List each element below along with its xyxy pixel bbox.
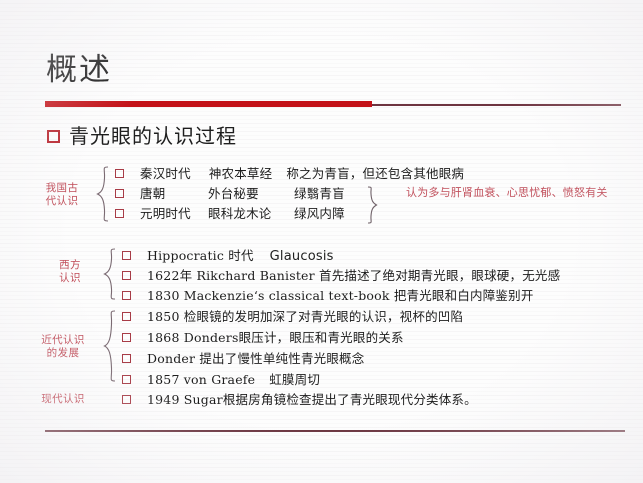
group-label-modern-dev-line1: 近代认识 [22, 334, 104, 347]
cell-note: 虹膜周切 [269, 372, 320, 387]
group-label-ancient-line2: 代认识 [26, 195, 98, 208]
hollow-square-bullet-icon [122, 291, 131, 300]
cell-era: Hippocratic 时代 [147, 248, 254, 263]
list-item-text: 1850 检眼镜的发明加深了对青光眼的认识，视杯的凹陷 [147, 310, 463, 324]
group-label-modern-dev: 近代认识 的发展 [22, 334, 104, 360]
cell-source: 眼科龙木论 [208, 207, 294, 221]
hollow-square-bullet-icon [115, 169, 124, 178]
group-label-western-line2: 认识 [40, 272, 100, 285]
hollow-square-bullet-icon [122, 312, 131, 321]
heading-bullet-label: 青光眼的认识过程 [69, 124, 237, 148]
bottom-divider [45, 430, 625, 432]
cell-term: Glaucosis [270, 249, 334, 264]
cell-person: 1857 von Graefe [147, 372, 255, 387]
group-label-ancient: 我国古 代认识 [26, 182, 98, 208]
cell-note: 绿翳青盲 [294, 186, 345, 201]
brace-annotation [366, 186, 378, 224]
brace-modern-dev [103, 310, 117, 382]
group-label-western: 西方 认识 [40, 259, 100, 285]
hollow-square-bullet-icon [122, 395, 131, 404]
list-item: 唐朝外台秘要绿翳青盲 [115, 187, 345, 201]
list-item-text: Hippocratic 时代Glaucosis [147, 249, 334, 264]
hollow-square-bullet-icon [122, 251, 131, 260]
list-item: 1868 Donders眼压计，眼压和青光眼的关系 [122, 331, 404, 345]
hollow-square-bullet-icon [122, 354, 131, 363]
list-item-text: 1868 Donders眼压计，眼压和青光眼的关系 [147, 331, 404, 345]
hollow-square-bullet-icon [122, 375, 131, 384]
list-item: Donder 提出了慢性单纯性青光眼概念 [122, 352, 364, 366]
hollow-square-bullet-icon [115, 189, 124, 198]
list-item: Hippocratic 时代Glaucosis [122, 249, 334, 264]
cell-era: 唐朝 [140, 187, 208, 201]
hollow-square-bullet-icon [122, 333, 131, 342]
slide-canvas: 概述 青光眼的认识过程 我国古 代认识 秦汉时代神农本草经称之为青盲，但还包含其… [0, 0, 643, 483]
hollow-square-bullet-icon [122, 271, 131, 280]
cell-era: 秦汉时代 [140, 166, 191, 181]
cell-era: 元明时代 [140, 207, 208, 221]
page-title: 概述 [46, 50, 112, 90]
cell-note: 称之为青盲，但还包含其他眼病 [286, 166, 464, 181]
list-item: 元明时代眼科龙木论绿风内障 [115, 207, 345, 221]
brace-ancient [96, 166, 110, 222]
title-rule-thin [372, 104, 621, 106]
list-item-text: 1830 Mackenzie‘s classical text-book 把青光… [147, 289, 534, 303]
group-label-ancient-line1: 我国古 [26, 182, 98, 195]
list-item-text: 1949 Sugar根据房角镜检查提出了青光眼现代分类体系。 [147, 393, 477, 407]
group-label-contemporary: 现代认识 [22, 393, 104, 406]
cell-source: 外台秘要 [208, 187, 294, 201]
annotation-text: 认为多与肝肾血衰、心思忧郁、愤怒有关 [406, 185, 638, 200]
list-item-text: 1622年 Rikchard Banister 首先描述了绝对期青光眼，眼球硬，… [147, 269, 560, 283]
group-label-contemporary-line1: 现代认识 [22, 393, 104, 406]
list-item: 1830 Mackenzie‘s classical text-book 把青光… [122, 289, 534, 303]
list-item: 1857 von Graefe虹膜周切 [122, 373, 320, 387]
list-item: 1949 Sugar根据房角镜检查提出了青光眼现代分类体系。 [122, 393, 477, 407]
group-label-modern-dev-line2: 的发展 [22, 347, 104, 360]
list-item-text: 1857 von Graefe虹膜周切 [147, 373, 320, 387]
list-item-text: 元明时代眼科龙木论绿风内障 [140, 207, 345, 221]
list-item: 1850 检眼镜的发明加深了对青光眼的认识，视杯的凹陷 [122, 310, 463, 324]
hollow-square-bullet-icon [115, 209, 124, 218]
list-item: 1622年 Rikchard Banister 首先描述了绝对期青光眼，眼球硬，… [122, 269, 560, 283]
group-label-western-line1: 西方 [40, 259, 100, 272]
list-item: 秦汉时代神农本草经称之为青盲，但还包含其他眼病 [115, 167, 464, 181]
list-item-text: Donder 提出了慢性单纯性青光眼概念 [147, 352, 364, 366]
hollow-square-bullet-icon [47, 130, 60, 143]
cell-source: 神农本草经 [209, 166, 273, 181]
list-item-text: 秦汉时代神农本草经称之为青盲，但还包含其他眼病 [140, 167, 464, 181]
heading-bullet-item: 青光眼的认识过程 [47, 124, 237, 148]
cell-note: 绿风内障 [294, 206, 345, 221]
brace-western [103, 248, 117, 300]
title-rule-thick [45, 101, 372, 107]
list-item-text: 唐朝外台秘要绿翳青盲 [140, 187, 345, 201]
